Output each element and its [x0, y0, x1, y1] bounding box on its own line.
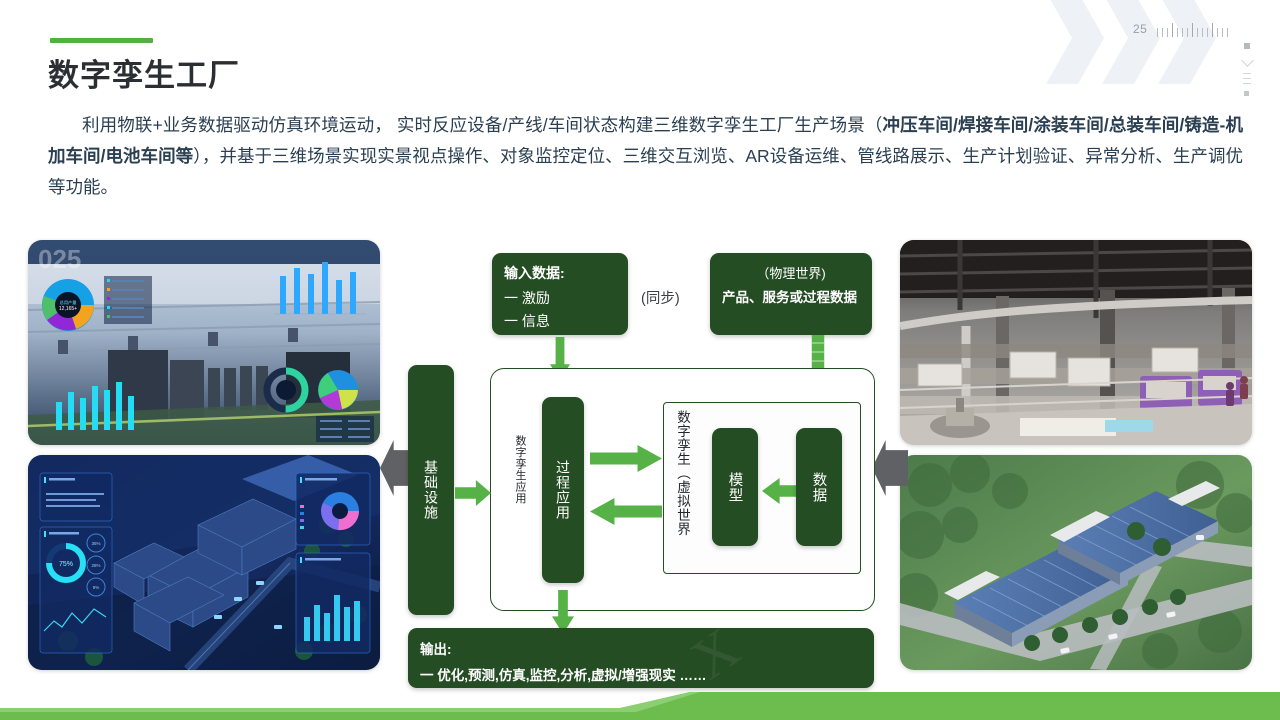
svg-text:75%: 75% [59, 561, 73, 568]
svg-text:025: 025 [38, 244, 81, 274]
photo-factory-dashboard-overlay: 总用产量 12,165+ [28, 240, 380, 445]
page-title: 数字孪生工厂 [48, 50, 240, 95]
title-accent-bar [50, 38, 153, 43]
output-box: 输出: 一 优化,预测,仿真,监控,分析,虚拟/增强现实 …… [408, 628, 874, 688]
photo-park-aerial-dashboard: 75% 35%28%9% [28, 455, 380, 670]
photo-factory-workshop [900, 240, 1252, 445]
digital-twin-virtual-world-label: 数字孪生（虚拟世界 [672, 410, 692, 568]
output-body: 一 优化,预测,仿真,监控,分析,虚拟/增强现实 …… [420, 664, 862, 684]
input-data-item: 一 信息 [504, 311, 616, 331]
data-label: 数据 [796, 428, 842, 546]
arrow-right-infrastructure-icon [455, 480, 491, 506]
infrastructure-box: 基础设施 [408, 365, 454, 615]
photo-factory-aerial-render [900, 455, 1252, 670]
process-application-label: 过程应用 [542, 397, 584, 583]
sync-label: (同步) [641, 287, 680, 308]
body-paragraph: 利用物联+业务数据驱动仿真环境运动， 实时反应设备/产线/车间状态构建三维数字孪… [48, 110, 1243, 203]
bottom-green-band [0, 690, 1280, 720]
physical-world-body: 产品、服务或过程数据 [722, 289, 860, 307]
model-box: 模型 [712, 428, 758, 546]
ruler-ticks-decoration [1157, 23, 1232, 37]
output-heading: 输出: [420, 638, 862, 658]
digital-twin-application-label: 数字孪生应用 [512, 435, 528, 555]
square-marker-icon [1244, 43, 1250, 49]
svg-text:28%: 28% [91, 563, 100, 568]
svg-text:35%: 35% [91, 541, 100, 546]
dash-icon [1243, 78, 1251, 79]
svg-text:总用产量: 总用产量 [60, 299, 77, 306]
chevron-icon [1158, 0, 1216, 84]
data-box: 数据 [796, 428, 842, 546]
svg-text:12,165+: 12,165+ [59, 306, 77, 312]
physical-world-box: （物理世界) 产品、服务或过程数据 [710, 253, 872, 335]
svg-text:9%: 9% [93, 585, 100, 590]
paragraph-suffix: ），并基于三维场景实现实景视点操作、对象监控定位、三维交互浏览、AR设备运维、管… [48, 146, 1243, 197]
model-label: 模型 [712, 428, 758, 546]
dash-icon [1243, 83, 1251, 84]
chevron-icon [1046, 0, 1104, 84]
chevron-down-icon [1241, 54, 1254, 67]
slide-root: 25 数字孪生工厂 利用物联+业务数据驱动仿真环境运动， 实时反应设备/产线/车… [0, 0, 1280, 720]
dash-icon [1243, 73, 1251, 74]
ruler-dots-decoration [1243, 43, 1257, 96]
page-number: 25 [1133, 22, 1147, 36]
infrastructure-label: 基础设施 [408, 365, 454, 615]
physical-world-heading: （物理世界) [722, 263, 860, 282]
input-data-box: 输入数据: 一 激励 一 信息 [492, 253, 628, 335]
chevron-icon [1102, 0, 1160, 84]
process-application-box: 过程应用 [542, 397, 584, 583]
input-data-heading: 输入数据: [504, 263, 616, 283]
square-marker-icon [1244, 91, 1249, 96]
input-data-item: 一 激励 [504, 288, 616, 308]
paragraph-prefix: 利用物联+业务数据驱动仿真环境运动， 实时反应设备/产线/车间状态构建三维数字孪… [82, 115, 883, 135]
